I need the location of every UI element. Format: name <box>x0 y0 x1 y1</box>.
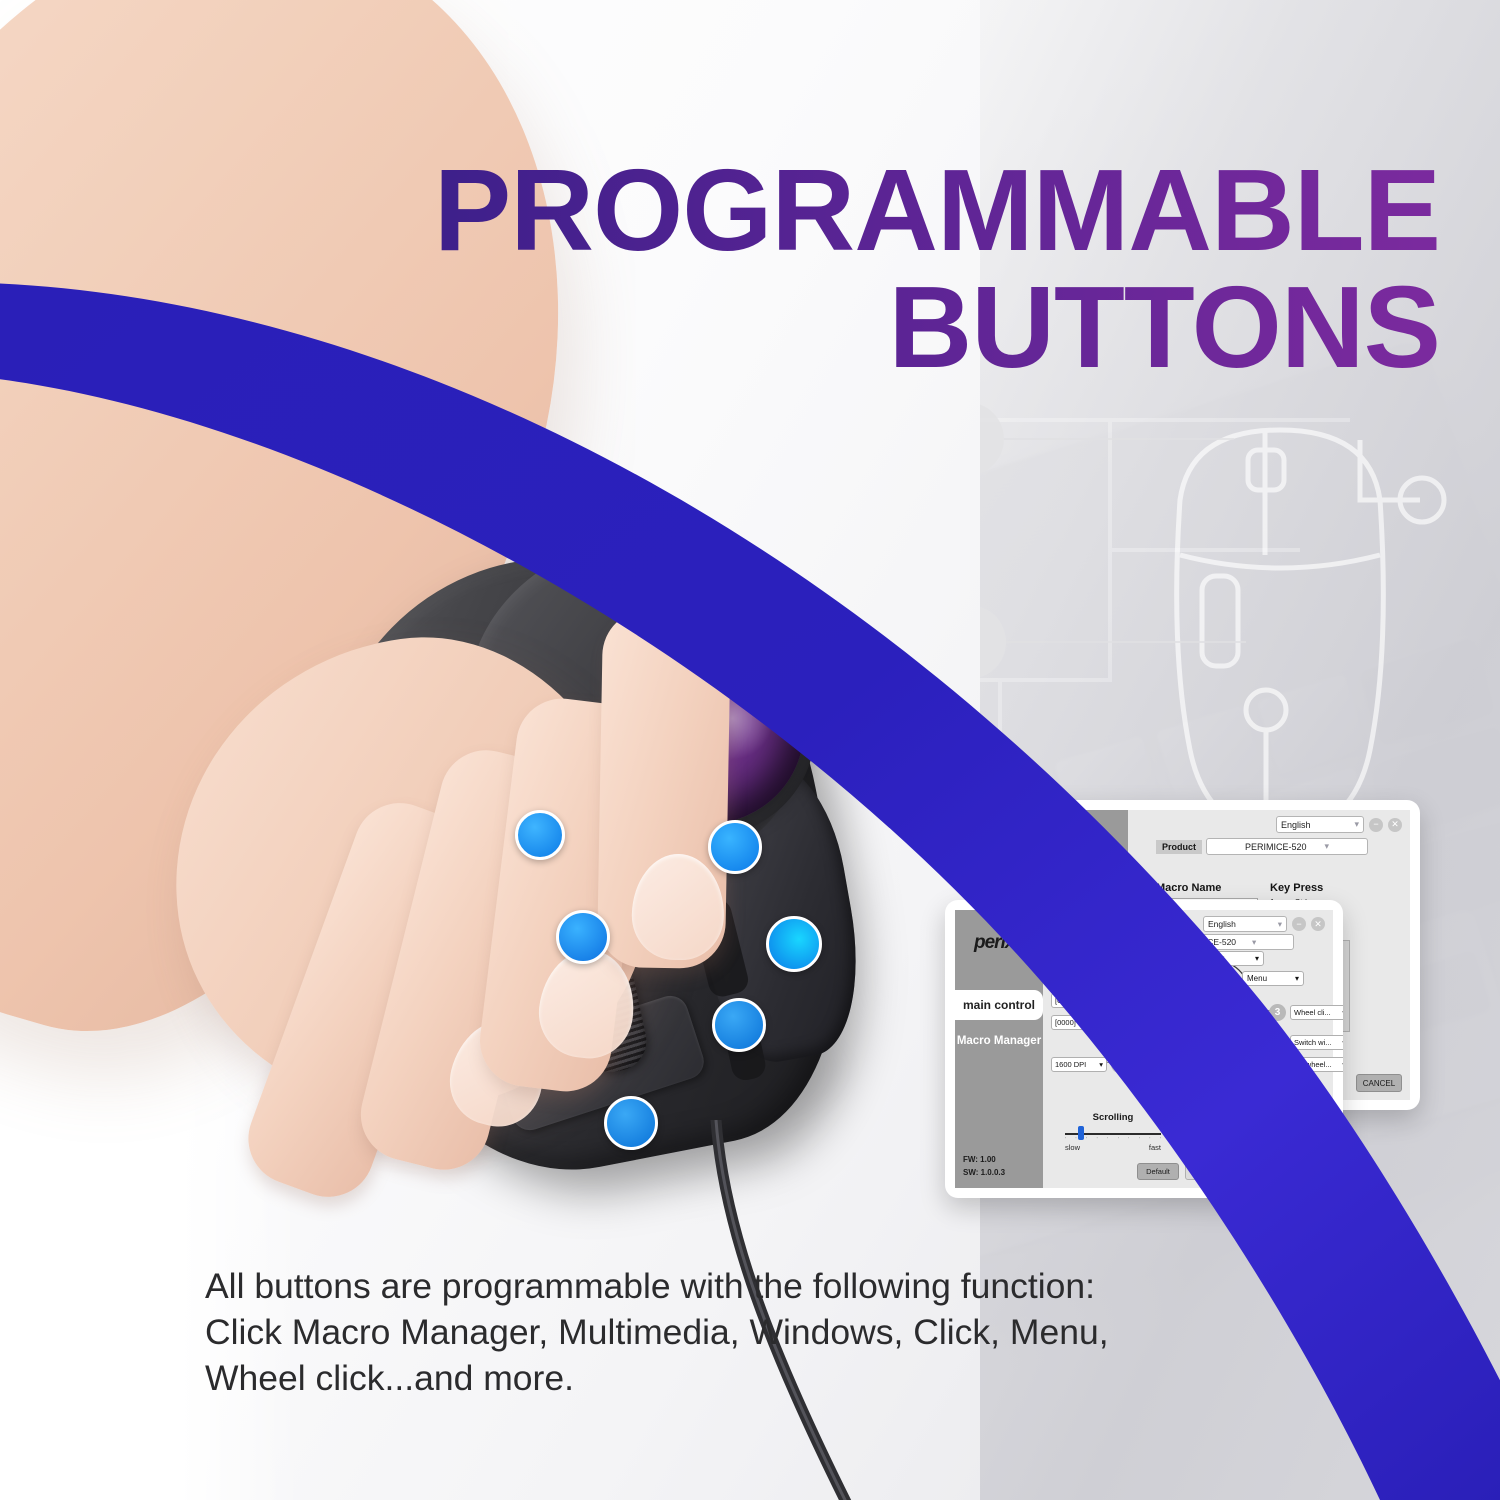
chevron-down-icon: ▾ <box>1099 1060 1103 1069</box>
slider-scrolling-title: Scrolling <box>1065 1112 1161 1123</box>
product-value-front: PERIMICE-520 <box>1178 937 1236 947</box>
assign-select-8[interactable]: [0001] ▾ <box>1051 993 1107 1008</box>
assign-select-4[interactable]: Switch wi... ▾ <box>1290 1035 1343 1050</box>
headline: PROGRAMMABLE BUTTONS <box>0 155 1440 384</box>
chevron-down-icon: ▾ <box>1255 954 1259 963</box>
default-button[interactable]: Default <box>1137 1163 1179 1180</box>
headline-line-2: BUTTONS <box>0 272 1440 383</box>
poster-canvas: 7 6 9 <box>0 0 1500 1500</box>
assign-select-5[interactable]: Tilt wheel... ▾ <box>1290 1057 1343 1072</box>
firmware-version: FW: 1.00 <box>963 1154 1043 1167</box>
slider-scrolling[interactable]: Scrolling '''''''''' slow fast <box>1065 1112 1161 1152</box>
product-label-front: Product <box>1095 935 1137 949</box>
chevron-down-icon: ▾ <box>1278 919 1282 930</box>
assign-select-9[interactable]: [0000] ▾ <box>1051 1015 1107 1030</box>
callout-3[interactable]: 3 Wheel cli... ▾ <box>1269 1004 1343 1021</box>
assign-value-5: Tilt wheel... <box>1294 1060 1332 1069</box>
slider-double-click-track[interactable] <box>1225 1133 1321 1135</box>
assign-value-9: [0000] <box>1055 1018 1076 1027</box>
callout-number-7: 7 <box>1111 970 1128 987</box>
callout-number-9: 9 <box>1111 1014 1128 1031</box>
slider-scrolling-min: slow <box>1065 1143 1080 1152</box>
chevron-down-icon: ▾ <box>1099 996 1103 1005</box>
assign-value-8: [0001] <box>1055 996 1076 1005</box>
marker-back-button[interactable] <box>556 910 610 964</box>
assign-value-6: 1600 DPI <box>1055 1060 1086 1069</box>
callout-2[interactable]: 2 Menu ▾ <box>1221 970 1304 987</box>
assign-select-3[interactable]: Wheel cli... ▾ <box>1290 1005 1343 1020</box>
slider-double-click-title: Double click <box>1225 1112 1321 1123</box>
language-select-front[interactable]: English ▾ <box>1203 916 1287 932</box>
marker-forward-button[interactable] <box>708 820 762 874</box>
callout-number-4: 4 <box>1269 1034 1286 1051</box>
marker-tilt-wheel-left[interactable] <box>515 810 565 860</box>
callout-number-1: 1 <box>1181 950 1198 967</box>
callout-8[interactable]: [0001] ▾ 8 <box>1051 992 1128 1009</box>
assign-select-1[interactable]: Click ▾ <box>1202 951 1264 966</box>
chevron-down-icon: ▾ <box>1252 937 1256 948</box>
save-button[interactable]: SAVE <box>1233 1163 1275 1180</box>
nav-main-control-front[interactable]: main control <box>955 990 1043 1020</box>
slider-scrolling-max: fast <box>1149 1143 1161 1152</box>
callout-1[interactable]: 1 Click ▾ <box>1181 950 1264 967</box>
language-value-front: English <box>1208 919 1236 929</box>
caption-line-1: All buttons are programmable with the fo… <box>205 1263 1205 1309</box>
callout-4[interactable]: 4 Switch wi... ▾ <box>1269 1034 1343 1051</box>
marker-left-click[interactable] <box>604 1096 658 1150</box>
topbar-back[interactable]: English ▾ − ✕ <box>1276 816 1402 833</box>
close-button-front[interactable]: ✕ <box>1311 917 1325 931</box>
product-label-back: Product <box>1156 840 1202 854</box>
product-select-front[interactable]: PERIMICE-520 ▾ <box>1140 934 1294 950</box>
slider-double-click-min: slow <box>1225 1143 1240 1152</box>
slider-scrolling-knob[interactable] <box>1078 1126 1084 1140</box>
callout-number-2: 2 <box>1221 970 1238 987</box>
marker-right-click[interactable] <box>712 998 766 1052</box>
leader-4 <box>1221 1040 1273 1041</box>
software-version: SW: 1.0.0.3 <box>963 1167 1043 1180</box>
close-button-back[interactable]: ✕ <box>1388 818 1402 832</box>
software-window-main-control[interactable]: perixx main control Macro Manager FW: 1.… <box>945 900 1343 1198</box>
slider-scrolling-track[interactable] <box>1065 1133 1161 1135</box>
chevron-down-icon: ▾ <box>1295 974 1299 983</box>
chevron-down-icon: ▾ <box>1342 1038 1343 1047</box>
chevron-down-icon: ▾ <box>1325 841 1330 852</box>
leader-3 <box>1221 1010 1273 1011</box>
minimize-button-back[interactable]: − <box>1369 818 1383 832</box>
caption-line-2: Click Macro Manager, Multimedia, Windows… <box>205 1309 1205 1355</box>
cancel-button-back[interactable]: CANCEL <box>1356 1074 1402 1092</box>
caption-line-3: Wheel click...and more. <box>205 1355 1205 1401</box>
macro-name-label: Macro Name <box>1156 882 1221 894</box>
nav-macro-manager[interactable]: Macro Manager <box>955 1026 1043 1056</box>
callout-number-3: 3 <box>1269 1004 1286 1021</box>
callout-5[interactable]: 5 Tilt wheel... ▾ <box>1269 1056 1343 1073</box>
assign-value-4: Switch wi... <box>1294 1038 1332 1047</box>
callout-number-6: 6 <box>1111 1056 1128 1073</box>
perixx-logo-front: perixx <box>955 910 1043 954</box>
assign-select-7[interactable]: Tilt wheel... ▾ <box>1051 971 1107 986</box>
chevron-down-icon: ▾ <box>1354 819 1359 830</box>
language-select-back[interactable]: English ▾ <box>1276 816 1364 833</box>
watermark-leader-6 <box>1006 641 1246 643</box>
assign-value-7: Tilt wheel... <box>1055 974 1093 983</box>
assign-value-1: Click <box>1207 954 1224 963</box>
language-value-back: English <box>1281 820 1311 830</box>
key-press-label: Key Press <box>1270 882 1323 894</box>
cancel-button[interactable]: CANCEL <box>1281 1163 1327 1180</box>
headline-line-1: PROGRAMMABLE <box>0 155 1440 266</box>
assign-value-3: Wheel cli... <box>1294 1008 1331 1017</box>
chevron-down-icon: ▾ <box>1342 1060 1343 1069</box>
topbar-front[interactable]: English ▾ − ✕ <box>1203 916 1325 932</box>
slider-double-click[interactable]: Double click '''''''''' slow fast <box>1225 1112 1321 1152</box>
chevron-down-icon: ▾ <box>1342 1008 1343 1017</box>
assign-value-2: Menu <box>1247 974 1267 983</box>
minimize-button-front[interactable]: − <box>1292 917 1306 931</box>
assign-select-6[interactable]: 1600 DPI ▾ <box>1051 1057 1107 1072</box>
callout-6[interactable]: 1600 DPI ▾ 6 <box>1051 1056 1128 1073</box>
watermark-leader-7 <box>1004 438 1234 440</box>
callout-number-8: 8 <box>1111 992 1128 1009</box>
product-value-back: PERIMICE-520 <box>1245 842 1307 852</box>
callout-7[interactable]: Tilt wheel... ▾ 7 <box>1051 970 1128 987</box>
callout-9[interactable]: [0000] ▾ 9 <box>1051 1014 1128 1031</box>
perixx-logo-back: perixx <box>1030 810 1128 858</box>
feature-caption: All buttons are programmable with the fo… <box>205 1263 1205 1401</box>
ok-button[interactable]: OK <box>1185 1163 1227 1180</box>
chevron-down-icon: ▾ <box>1099 974 1103 983</box>
assign-select-2[interactable]: Menu ▾ <box>1242 971 1304 986</box>
callout-number-5: 5 <box>1269 1056 1286 1073</box>
product-select-back[interactable]: PERIMICE-520 ▾ <box>1206 838 1368 855</box>
chevron-down-icon: ▾ <box>1099 1018 1103 1027</box>
slider-double-click-knob[interactable] <box>1248 1126 1254 1140</box>
marker-dpi-button[interactable] <box>766 916 822 972</box>
slider-double-click-max: fast <box>1309 1143 1321 1152</box>
leader-5 <box>1221 1062 1273 1063</box>
